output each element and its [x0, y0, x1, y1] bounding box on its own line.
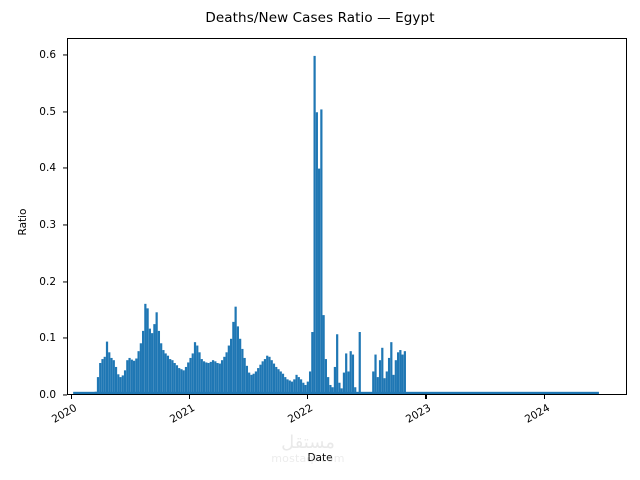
bar [257, 368, 259, 394]
bar [214, 361, 216, 394]
y-tick-label: 0.4 [39, 162, 56, 174]
bar [286, 379, 288, 394]
bar [198, 352, 200, 394]
bar [140, 343, 142, 394]
bar [282, 374, 284, 394]
bar [158, 331, 160, 394]
bar [167, 356, 169, 394]
bar [284, 377, 286, 394]
x-tick-mark [189, 395, 190, 399]
x-tick-label: 2022 [278, 402, 315, 430]
bar [304, 385, 306, 394]
bar [390, 342, 392, 394]
bar [293, 379, 295, 394]
bar [352, 355, 354, 394]
bar [97, 377, 99, 394]
bar [262, 361, 264, 394]
bar [108, 352, 110, 394]
bar [402, 355, 404, 394]
bar [187, 362, 189, 394]
bar [383, 378, 385, 394]
y-tick-label: 0.2 [39, 276, 56, 288]
bar [298, 377, 300, 394]
bar [192, 353, 194, 394]
x-tick-label: 2021 [160, 402, 197, 430]
plot-area [67, 38, 627, 395]
bar [250, 375, 252, 394]
bar [289, 380, 291, 394]
bar [347, 371, 349, 394]
bar [210, 362, 212, 394]
bar [99, 363, 101, 394]
bar [268, 357, 270, 394]
y-tick-label: 0.5 [39, 106, 56, 118]
bar [248, 373, 250, 394]
y-tick-label: 0.1 [39, 332, 56, 344]
x-tick-mark [71, 395, 72, 399]
x-axis-label: Date [0, 452, 640, 464]
bar [124, 370, 126, 394]
watermark-arabic-text: مستقل [248, 434, 368, 452]
bar [307, 382, 309, 394]
bar [171, 360, 173, 394]
bar [341, 388, 343, 394]
bar [169, 359, 171, 394]
bar [147, 308, 149, 394]
bar [325, 359, 327, 394]
bar [232, 322, 234, 394]
bar [338, 383, 340, 394]
bar [291, 382, 293, 394]
bar [153, 324, 155, 394]
x-axis: 20202021202220232024 [0, 395, 640, 480]
bar [178, 368, 180, 394]
bar [194, 342, 196, 394]
x-tick-label: 2020 [42, 402, 79, 430]
bar [395, 360, 397, 394]
bar-series [68, 39, 626, 394]
chart-title: Deaths/New Cases Ratio — Egypt [0, 10, 640, 26]
bar [95, 392, 97, 394]
bar [183, 370, 185, 394]
bar [133, 361, 135, 394]
bar [392, 375, 394, 394]
bar [253, 374, 255, 394]
bar [156, 312, 158, 394]
bar [110, 358, 112, 394]
bar [203, 361, 205, 394]
bar [397, 352, 399, 394]
bar [185, 367, 187, 394]
bar [162, 350, 164, 394]
bar [246, 366, 248, 394]
bar [228, 346, 230, 394]
bar [314, 56, 316, 394]
bar [212, 360, 214, 394]
bar [106, 342, 108, 394]
bar [174, 363, 176, 394]
bar [223, 357, 225, 394]
bar [329, 385, 331, 394]
bar [205, 362, 207, 394]
bar [135, 359, 137, 395]
bar [219, 364, 221, 394]
bar [318, 169, 320, 394]
bar [241, 349, 243, 394]
bar [196, 346, 198, 394]
bar [320, 109, 322, 394]
bar [126, 360, 128, 394]
y-axis-label: Ratio [17, 177, 29, 267]
bar [101, 359, 103, 394]
bar [255, 371, 257, 394]
bar [381, 348, 383, 394]
bar [354, 387, 356, 394]
bar [189, 358, 191, 394]
bar [336, 334, 338, 394]
bar [151, 333, 153, 394]
bar [404, 351, 406, 394]
bar [280, 371, 282, 394]
x-tick-mark [544, 395, 545, 399]
bar [113, 360, 115, 394]
bar [343, 373, 345, 394]
bar [309, 371, 311, 394]
bar [225, 352, 227, 394]
bar [131, 360, 133, 394]
bar [176, 365, 178, 394]
bar [295, 375, 297, 394]
bar [399, 350, 401, 394]
bar [379, 360, 381, 394]
y-tick-label: 0.6 [39, 49, 56, 61]
bar [277, 369, 279, 394]
bar [300, 379, 302, 394]
bar [273, 364, 275, 394]
bar [259, 365, 261, 394]
bar [244, 358, 246, 394]
bar [275, 367, 277, 394]
x-tick-mark [425, 395, 426, 399]
chart-figure: Deaths/New Cases Ratio — Egypt 0.00.10.2… [0, 0, 640, 480]
bar [271, 360, 273, 394]
bar [104, 357, 106, 394]
bar [264, 359, 266, 394]
bar [160, 343, 162, 394]
bar [266, 356, 268, 394]
bar [239, 339, 241, 394]
bar [359, 332, 361, 394]
bar [350, 351, 352, 394]
bar [386, 371, 388, 394]
bar [372, 371, 374, 394]
bar [388, 358, 390, 394]
bar [128, 358, 130, 394]
y-tick-label: 0.0 [39, 389, 56, 401]
bar [149, 329, 151, 394]
bar [122, 375, 124, 394]
y-tick-label: 0.3 [39, 219, 56, 231]
bar [311, 332, 313, 394]
bar [137, 351, 139, 394]
bar [374, 355, 376, 394]
bar [216, 363, 218, 394]
x-tick-mark [307, 395, 308, 399]
bar [377, 377, 379, 394]
bar [144, 304, 146, 394]
bar [180, 369, 182, 394]
bar [207, 363, 209, 394]
x-tick-label: 2024 [514, 402, 551, 430]
bar [316, 112, 318, 394]
bar [115, 367, 117, 394]
bar [237, 326, 239, 394]
bar [327, 377, 329, 394]
bar [201, 359, 203, 394]
bar [302, 383, 304, 394]
bar [119, 377, 121, 394]
bar [142, 331, 144, 394]
bar [117, 374, 119, 394]
y-axis: 0.00.10.20.30.40.50.6 [0, 0, 67, 480]
bar [165, 353, 167, 394]
bar [323, 315, 325, 394]
x-tick-label: 2023 [396, 402, 433, 430]
bar [332, 387, 334, 394]
bar [230, 339, 232, 394]
bar [221, 360, 223, 394]
bar [235, 307, 237, 394]
bar [345, 353, 347, 394]
bar [334, 367, 336, 394]
